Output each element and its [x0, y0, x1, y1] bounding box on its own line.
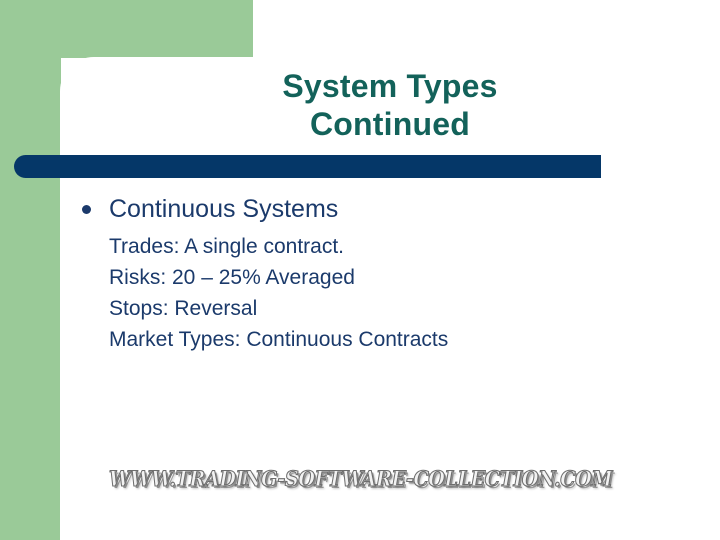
list-item: Stops: Reversal — [109, 293, 682, 324]
page-title: System Types Continued — [110, 67, 670, 143]
bullet-circle-icon — [82, 205, 91, 214]
list-item: Risks: 20 – 25% Averaged — [109, 262, 682, 293]
list-item: Market Types: Continuous Contracts — [109, 324, 682, 355]
list-item: Trades: A single contract. — [109, 231, 682, 262]
bullet-sub-list: Trades: A single contract. Risks: 20 – 2… — [109, 231, 682, 355]
presentation-slide: System Types Continued Continuous System… — [0, 0, 720, 540]
list-item: Continuous Systems — [82, 192, 682, 226]
slide-body: Continuous Systems Trades: A single cont… — [82, 192, 682, 355]
bullet-heading: Continuous Systems — [109, 192, 338, 226]
title-accent-bar — [14, 155, 601, 178]
page-title-line-1: System Types — [110, 67, 670, 105]
green-sidebar-decoration — [0, 0, 61, 540]
page-title-line-2: Continued — [110, 105, 670, 143]
